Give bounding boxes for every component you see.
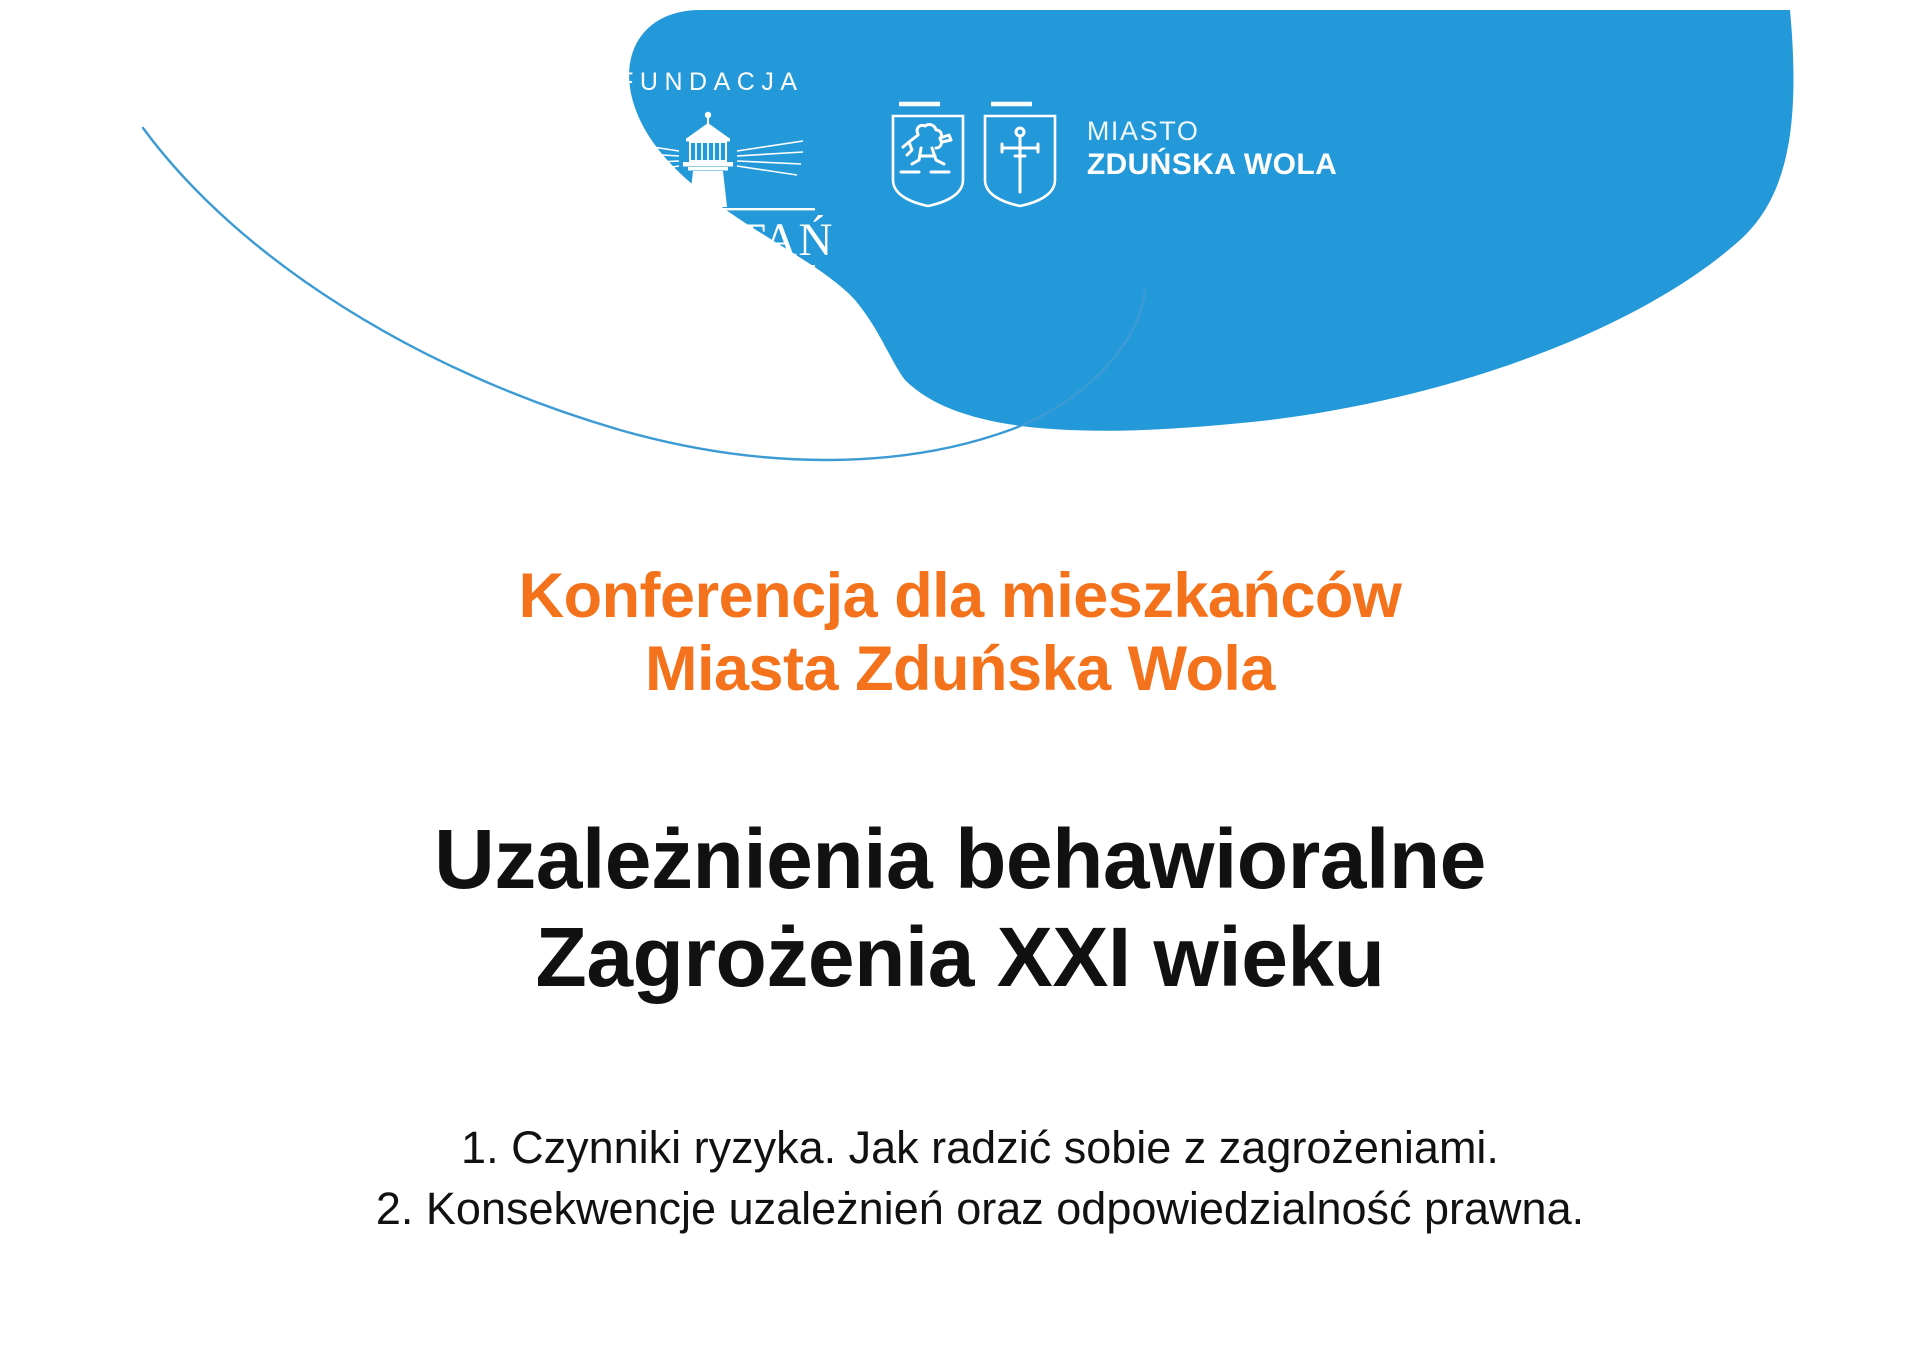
agenda-item: 1. Czynniki ryzyka. Jak radzić sobie z z… [40,1118,1920,1179]
conference-heading-line2: Miasta Zduńska Wola [645,634,1275,704]
page-title: Uzależnienia behawioralne Zagrożenia XXI… [0,706,1920,1006]
main-title-line2: Zagrożenia XXI wieku [536,910,1385,1004]
poster-content: Konferencja dla mieszkańców Miasta Zduńs… [0,560,1920,1240]
agenda-item: 2. Konsekwencje uzależnień oraz odpowied… [40,1179,1920,1240]
agenda-list: 1. Czynniki ryzyka. Jak radzić sobie z z… [0,1006,1920,1240]
conference-heading: Konferencja dla mieszkańców Miasta Zduńs… [0,560,1920,706]
blue-blob-shape [629,10,1793,431]
main-title-line1: Uzależnienia behawioralne [434,812,1486,906]
conference-heading-line1: Konferencja dla mieszkańców [519,561,1402,631]
header-decoration [0,0,1920,500]
